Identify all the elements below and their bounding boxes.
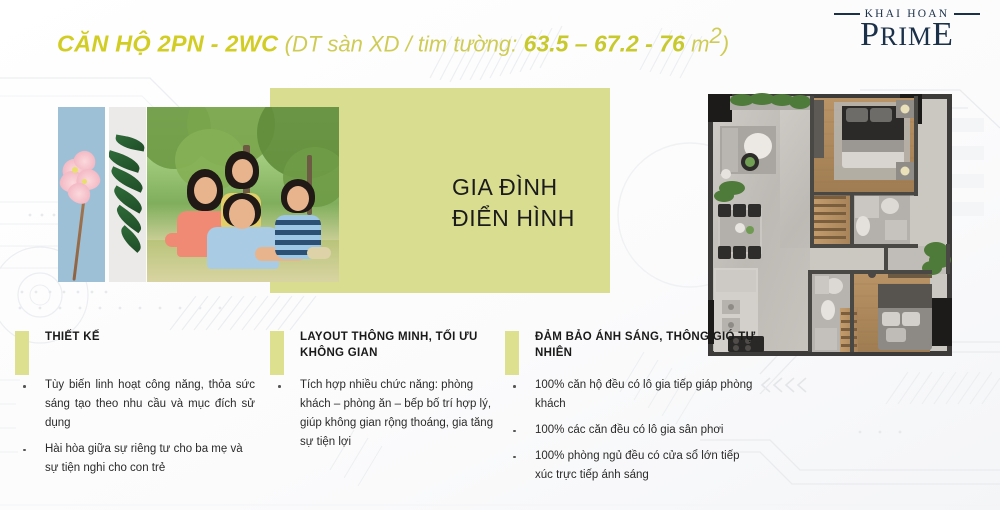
- brand-logo: KHAI HOAN PRIME: [832, 8, 982, 51]
- list-item: Tích hợp nhiều chức năng: phòng khách – …: [270, 376, 505, 452]
- list-item: 100% các căn đều có lô gia sân phơi: [505, 421, 760, 440]
- logo-prime-text: PRIME: [832, 19, 982, 51]
- page-title-unit-sup: 2: [710, 23, 722, 48]
- hero-caption-line-2: ĐIỂN HÌNH: [452, 203, 622, 234]
- feature-bullet-list: Tích hợp nhiều chức năng: phòng khách – …: [270, 376, 505, 452]
- list-item: Tùy biến linh hoạt công năng, thỏa sức s…: [15, 376, 255, 433]
- flower-center-shape: [82, 179, 87, 184]
- page-title-areas: 63.5 – 67.2 - 76: [524, 31, 685, 57]
- feature-bullet-list: 100% căn hộ đều có lô gia tiếp giáp phòn…: [505, 376, 760, 485]
- leg-shape: [307, 247, 331, 259]
- page-title-bold: CĂN HỘ 2PN - 2WC: [57, 31, 278, 57]
- feature-title: ĐẢM BẢO ÁNH SÁNG, THÔNG GIÓ TỰ NHIÊN: [535, 330, 760, 361]
- feature-heading: LAYOUT THÔNG MINH, TỐI ƯU KHÔNG GIAN: [270, 330, 505, 364]
- page-title-close-paren: ): [722, 32, 729, 57]
- flower-center-shape: [72, 167, 78, 173]
- accent-bar-icon: [270, 331, 284, 375]
- list-item: Hài hòa giữa sự riêng tư cho ba mẹ và sự…: [15, 440, 255, 478]
- page-title-note: (DT sàn XD / tim tường:: [285, 32, 518, 57]
- feature-heading: THIẾT KẾ: [15, 330, 255, 364]
- feature-bullet-list: Tùy biến linh hoạt công năng, thỏa sức s…: [15, 376, 255, 478]
- logo-prime-p: P: [860, 16, 880, 53]
- head-shape: [229, 199, 255, 229]
- list-item: 100% phòng ngủ đều có cửa sổ lớn tiếp xú…: [505, 447, 760, 485]
- feature-heading: ĐẢM BẢO ÁNH SÁNG, THÔNG GIÓ TỰ NHIÊN: [505, 330, 760, 364]
- slide-canvas: CĂN HỘ 2PN - 2WC (DT sàn XD / tim tường:…: [0, 0, 1000, 510]
- page-title-unit: m: [691, 32, 709, 57]
- head-shape: [232, 159, 253, 183]
- photo-strip-leaves: [109, 107, 146, 282]
- arm-shape: [165, 233, 189, 247]
- photo-strip-flower: [58, 107, 105, 282]
- feature-column-design: THIẾT KẾ Tùy biến linh hoạt công năng, t…: [15, 330, 255, 485]
- logo-rule-left-icon: [834, 13, 860, 15]
- feature-title: LAYOUT THÔNG MINH, TỐI ƯU KHÔNG GIAN: [300, 330, 505, 361]
- leaf-shape: [114, 134, 146, 151]
- feature-column-light: ĐẢM BẢO ÁNH SÁNG, THÔNG GIÓ TỰ NHIÊN 100…: [505, 330, 760, 492]
- accent-bar-icon: [15, 331, 29, 375]
- list-item: 100% căn hộ đều có lô gia tiếp giáp phòn…: [505, 376, 760, 414]
- accent-bar-icon: [505, 331, 519, 375]
- hero-caption-line-1: GIA ĐÌNH: [452, 172, 622, 203]
- page-title: CĂN HỘ 2PN - 2WC (DT sàn XD / tim tường:…: [57, 24, 729, 58]
- head-shape: [287, 186, 309, 211]
- family-lifestyle-photo: [147, 107, 339, 282]
- hero-caption: GIA ĐÌNH ĐIỂN HÌNH: [452, 172, 622, 233]
- head-shape: [194, 177, 217, 204]
- feature-title: THIẾT KẾ: [45, 330, 255, 346]
- logo-prime-e: E: [932, 16, 954, 53]
- logo-rule-right-icon: [954, 13, 980, 15]
- logo-prime-rim: RIM: [880, 22, 932, 51]
- feature-columns: THIẾT KẾ Tùy biến linh hoạt công năng, t…: [0, 330, 1000, 510]
- feature-column-layout: LAYOUT THÔNG MINH, TỐI ƯU KHÔNG GIAN Tíc…: [270, 330, 505, 459]
